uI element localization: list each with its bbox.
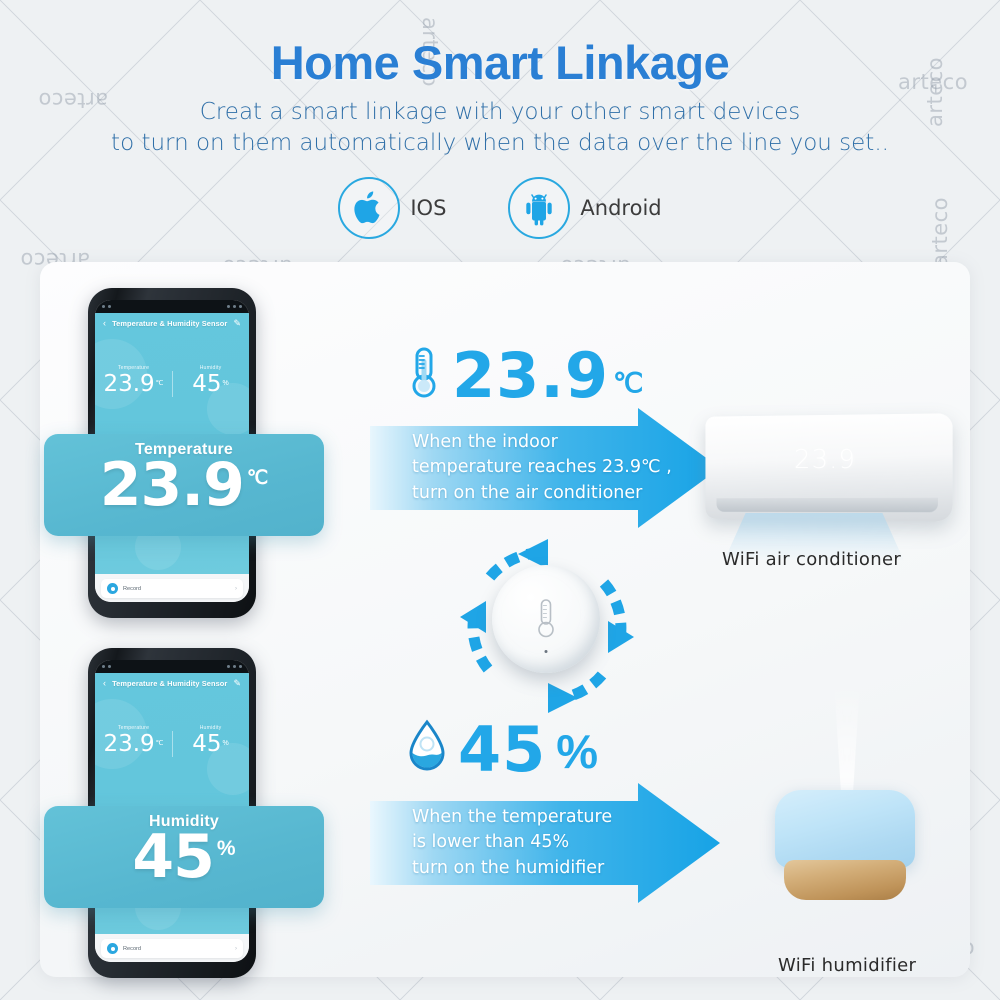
readout-value: 45 <box>192 733 221 756</box>
readout-value: 23.9 <box>103 733 154 756</box>
subtitle-line-1: Creat a smart linkage with your other sm… <box>0 97 1000 128</box>
rule-metric-unit: % <box>556 724 598 779</box>
record-row[interactable]: Record › <box>101 939 243 958</box>
rule-text-line-3: turn on the air conditioner <box>412 481 672 506</box>
readout-unit: ℃ <box>156 380 164 387</box>
page-title: Home Smart Linkage <box>0 38 1000 87</box>
platform-label-android: Android <box>580 196 661 220</box>
rule-text-line-2: temperature reaches 23.9℃ , <box>412 455 672 480</box>
chevron-left-icon[interactable]: ‹ <box>103 319 106 328</box>
thermometer-icon <box>533 597 559 641</box>
chevron-left-icon[interactable]: ‹ <box>103 679 106 688</box>
rule-arrow-humidity: When the temperature is lower than 45% t… <box>370 783 720 903</box>
platform-badge-ios: IOS <box>338 177 446 239</box>
humidity-summary-card: Humidity 45 % <box>44 806 324 908</box>
apple-icon <box>338 177 400 239</box>
app-footer: Record › <box>95 574 249 602</box>
readout-unit: % <box>223 740 229 747</box>
record-label: Record <box>123 586 230 592</box>
app-readout-humidity: Humidity 45% <box>172 725 249 756</box>
platform-badge-android: Android <box>508 177 661 239</box>
platform-badges: IOS <box>0 177 1000 239</box>
rule-arrow-text: When the indoor temperature reaches 23.9… <box>412 430 672 506</box>
wifi-humidifier <box>775 790 915 900</box>
card-unit: % <box>217 837 236 861</box>
wifi-air-conditioner-label: WiFi air conditioner <box>722 549 901 570</box>
humidifier-body <box>775 790 915 868</box>
wifi-humidifier-label: WiFi humidifier <box>778 955 916 976</box>
platform-label-ios: IOS <box>410 196 446 220</box>
chevron-right-icon: › <box>235 586 237 592</box>
temperature-summary-card: Temperature 23.9 ℃ <box>44 434 324 536</box>
sensor-led-dot <box>545 650 548 653</box>
rule-temperature: 23.9 ℃ When the indoor temperature reach… <box>370 345 720 528</box>
record-icon <box>107 943 118 954</box>
card-value: 23.9 <box>100 457 244 514</box>
phone-status-bar <box>95 300 249 313</box>
app-readouts: Temperature 23.9℃ Humidity 45% <box>95 725 249 756</box>
ac-vent <box>717 498 938 512</box>
rule-arrow-text: When the temperature is lower than 45% t… <box>412 805 612 881</box>
rule-metric-temperature: 23.9 ℃ <box>404 345 720 406</box>
rule-metric-humidity: 45 % <box>404 718 720 781</box>
rule-text-line-1: When the temperature <box>412 805 612 830</box>
ac-display-value: 23.9 <box>700 445 950 475</box>
app-readouts: Temperature 23.9℃ Humidity 45% <box>95 365 249 396</box>
rule-text-line-2: is lower than 45% <box>412 830 612 855</box>
app-top-bar: ‹ Temperature & Humidity Sensor ✎ <box>103 319 241 328</box>
pencil-icon[interactable]: ✎ <box>233 679 241 688</box>
sensor-hub <box>452 535 642 715</box>
rule-text-line-3: turn on the humidifier <box>412 856 612 881</box>
app-footer: Record › <box>95 934 249 962</box>
pencil-icon[interactable]: ✎ <box>233 319 241 328</box>
readout-unit: ℃ <box>156 740 164 747</box>
rule-arrow-temperature: When the indoor temperature reaches 23.9… <box>370 408 720 528</box>
android-icon <box>508 177 570 239</box>
record-row[interactable]: Record › <box>101 579 243 598</box>
app-readout-humidity: Humidity 45% <box>172 365 249 396</box>
app-readout-temperature: Temperature 23.9℃ <box>95 365 172 396</box>
app-top-bar: ‹ Temperature & Humidity Sensor ✎ <box>103 679 241 688</box>
humidifier-wood-base <box>784 860 906 900</box>
page-header: Home Smart Linkage Creat a smart linkage… <box>0 0 1000 239</box>
card-unit: ℃ <box>247 467 268 490</box>
record-icon <box>107 583 118 594</box>
thermometer-icon <box>404 345 444 406</box>
subtitle-line-2: to turn on them automatically when the d… <box>0 128 1000 159</box>
rule-metric-unit: ℃ <box>613 368 643 399</box>
rule-metric-value: 23.9 <box>452 348 609 404</box>
wifi-air-conditioner: 23.9 <box>700 415 950 520</box>
readout-value: 45 <box>192 373 221 396</box>
card-value: 45 <box>132 829 214 886</box>
rule-text-line-1: When the indoor <box>412 430 672 455</box>
rule-metric-value: 45 <box>458 722 546 778</box>
app-title: Temperature & Humidity Sensor <box>111 679 228 688</box>
chevron-right-icon: › <box>235 946 237 952</box>
app-title: Temperature & Humidity Sensor <box>111 319 228 328</box>
phone-status-bar <box>95 660 249 673</box>
app-readout-temperature: Temperature 23.9℃ <box>95 725 172 756</box>
rule-humidity: 45 % When the temperature is lower than … <box>370 718 720 903</box>
sensor-puck <box>492 565 600 673</box>
water-drop-icon <box>404 718 450 781</box>
readout-unit: % <box>223 380 229 387</box>
readout-value: 23.9 <box>103 373 154 396</box>
record-label: Record <box>123 946 230 952</box>
